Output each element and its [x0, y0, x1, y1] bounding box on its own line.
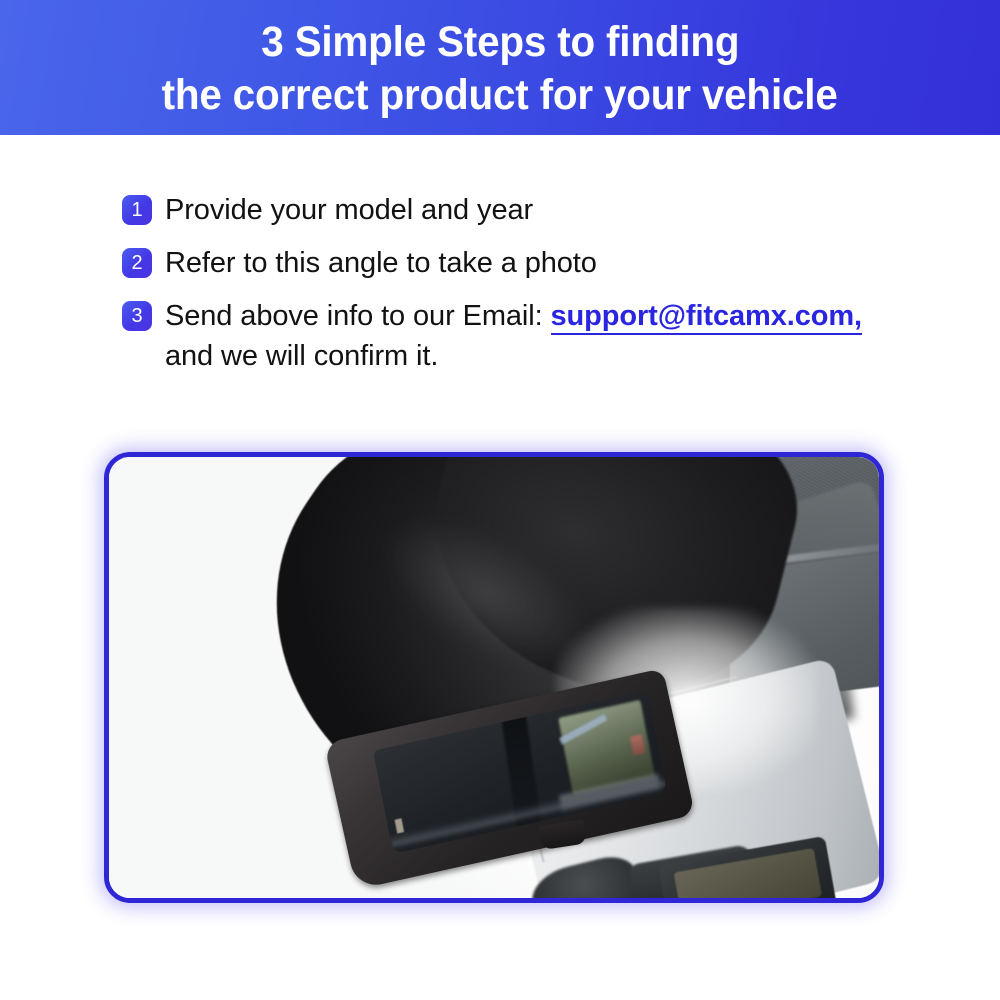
- step-row-2: 2 Refer to this angle to take a photo: [122, 243, 922, 283]
- step-number-badge-3: 3: [122, 301, 152, 331]
- header-title-line-1: 3 Simple Steps to finding: [261, 16, 739, 69]
- step-number-badge-1: 1: [122, 195, 152, 225]
- step-row-3: 3 Send above info to our Email: support@…: [122, 296, 922, 376]
- step-text-3-prefix: Send above info to our Email:: [165, 300, 551, 332]
- vehicle-interior-photo: [109, 457, 879, 898]
- step-text-2: Refer to this angle to take a photo: [165, 243, 922, 283]
- photo-mirror-reflection-marker: [395, 819, 404, 834]
- step-text-3: Send above info to our Email: support@fi…: [165, 296, 922, 376]
- header-banner: 3 Simple Steps to finding the correct pr…: [0, 0, 1000, 135]
- header-title-line-2: the correct product for your vehicle: [162, 69, 838, 122]
- step-text-3-suffix: and we will confirm it.: [165, 336, 922, 376]
- step-text-1: Provide your model and year: [165, 190, 922, 230]
- support-email-link[interactable]: support@fitcamx.com,: [551, 300, 863, 335]
- steps-list: 1 Provide your model and year 2 Refer to…: [122, 190, 922, 389]
- step-row-1: 1 Provide your model and year: [122, 190, 922, 230]
- vehicle-photo-frame: [104, 452, 884, 903]
- step-number-badge-2: 2: [122, 248, 152, 278]
